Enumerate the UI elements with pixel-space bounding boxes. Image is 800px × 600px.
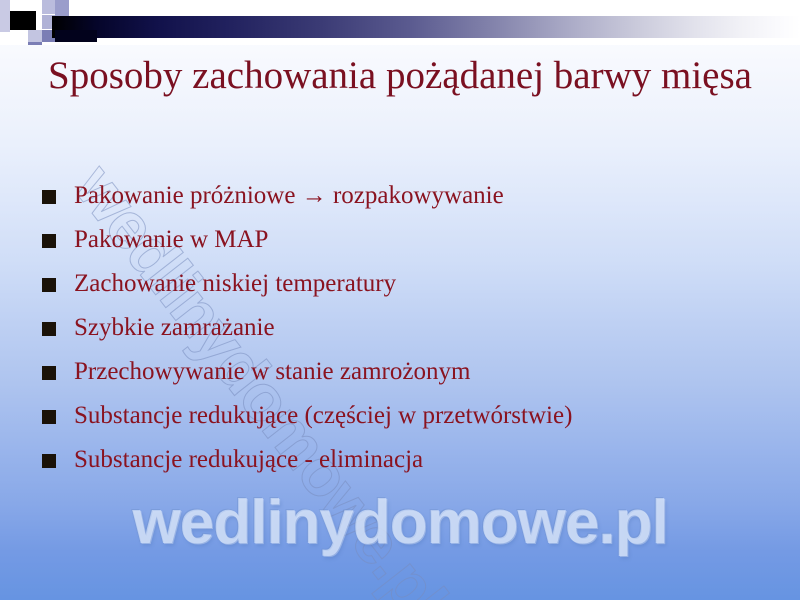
list-item-label: Substancje redukujące (częściej w przetw… (74, 400, 572, 432)
header-block-black-strip (55, 30, 97, 42)
square-bullet-icon (42, 278, 56, 292)
list-item: Zachowanie niskiej temperatury (42, 268, 762, 312)
bullet-list: Pakowanie próżniowe → rozpakowywanie Pak… (42, 180, 762, 488)
bottom-watermark: wedlinydomowe.pl (0, 487, 800, 558)
header-block-black-small (10, 11, 36, 30)
list-item-label: Pakowanie próżniowe → rozpakowywanie (74, 180, 504, 212)
presentation-slide: wedlinydomowe.pl Sposoby zachowania pożą… (0, 0, 800, 600)
list-item-label: Zachowanie niskiej temperatury (74, 268, 396, 300)
list-item: Przechowywanie w stanie zamrożonym (42, 356, 762, 400)
list-item: Substancje redukujące - eliminacja (42, 444, 762, 488)
slide-header-band (0, 0, 800, 45)
header-block-periwinkle-2 (42, 0, 55, 14)
list-item-label: Szybkie zamrażanie (74, 312, 275, 344)
square-bullet-icon (42, 234, 56, 248)
square-bullet-icon (42, 190, 56, 204)
list-item: Pakowanie w MAP (42, 224, 762, 268)
header-gradient-bar (52, 16, 800, 38)
slide-title: Sposoby zachowania pożądanej barwy mięsa (40, 50, 760, 102)
header-block-periwinkle-8 (28, 42, 42, 45)
square-bullet-icon (42, 454, 56, 468)
list-item: Substancje redukujące (częściej w przetw… (42, 400, 762, 444)
list-item-label: Przechowywanie w stanie zamrożonym (74, 356, 470, 388)
header-block-periwinkle-6 (28, 30, 42, 42)
square-bullet-icon (42, 410, 56, 424)
header-block-periwinkle-3 (55, 0, 69, 17)
list-item-label: Pakowanie w MAP (74, 224, 268, 256)
square-bullet-icon (42, 366, 56, 380)
square-bullet-icon (42, 322, 56, 336)
list-item: Pakowanie próżniowe → rozpakowywanie (42, 180, 762, 224)
list-item-label: Substancje redukujące - eliminacja (74, 444, 423, 476)
list-item: Szybkie zamrażanie (42, 312, 762, 356)
header-block-periwinkle-1 (0, 0, 10, 32)
